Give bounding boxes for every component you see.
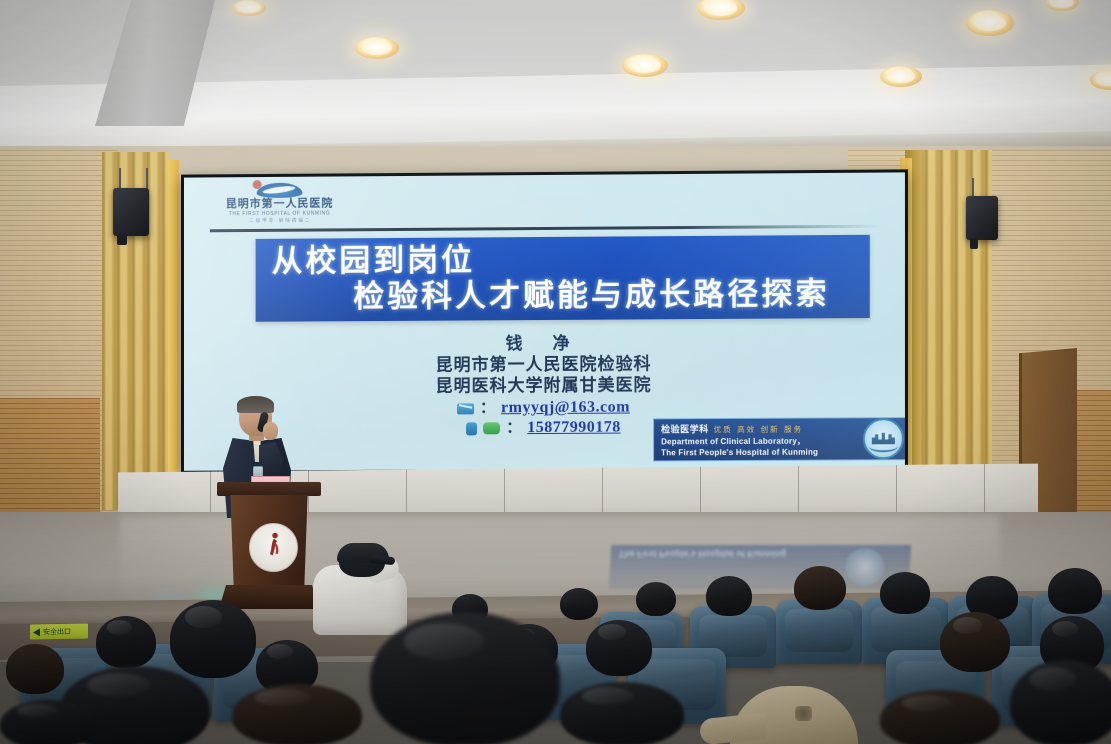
audience-head: [586, 620, 652, 676]
presenter-phone: 15877990178: [527, 419, 621, 438]
slide-org-logo: 昆明市第一人民医院 THE FIRST HOSPITAL OF KUNMING …: [210, 182, 349, 227]
audience-head: [560, 588, 598, 620]
running-figure-emblem-icon: [249, 523, 298, 572]
cap-logo-icon: [795, 706, 812, 721]
audience-head-foreground: [0, 700, 96, 744]
floor-reflection-emblem: [845, 548, 885, 586]
podium-body: [227, 495, 311, 587]
banner-slogans: 优质 高效 创新 服务: [714, 424, 803, 433]
slide-title-line1: 从校园到岗位: [272, 241, 475, 280]
audience-head: [794, 566, 846, 610]
floor-reflection-text: The First People's Hospital of Kunming: [618, 549, 786, 559]
audience-head-foreground: [880, 690, 1000, 744]
email-separator: ：: [480, 399, 495, 417]
audience-head-foreground: [1010, 660, 1111, 744]
speaker-bracket-left: [119, 168, 121, 190]
downlight-icon: [966, 10, 1014, 36]
banner-cn-row: 检验医学科优质 高效 创新 服务: [661, 421, 863, 436]
slide-title-bar: 从校园到岗位 检验科人才赋能与成长路径探索: [256, 235, 870, 322]
speaker-bracket-right: [972, 178, 974, 198]
audience-head-foreground: [560, 682, 684, 744]
speaker-bracket-left: [146, 168, 148, 190]
exit-sign: 安全出口: [30, 623, 88, 639]
presenter-email: rmyyqj@163.com: [501, 399, 630, 418]
phone-separator: ：: [506, 419, 521, 437]
audience-head-foreground: [370, 612, 560, 744]
audience-head: [1048, 568, 1102, 614]
loudspeaker-icon: [966, 196, 998, 240]
mail-icon: [457, 403, 474, 414]
hospital-logo-icon: [257, 183, 303, 198]
slide-title-line2: 检验科人才赋能与成长路径探索: [353, 275, 829, 316]
podium-top: [217, 482, 321, 496]
presenter-hand: [263, 422, 278, 440]
audience-head: [96, 616, 156, 668]
slide-footer-banner-texts: 检验医学科优质 高效 创新 服务 Department of Clinical …: [654, 421, 863, 458]
downlight-icon: [880, 66, 922, 87]
wood-panel-left-lower: [0, 398, 100, 520]
audience-head: [940, 612, 1010, 672]
banner-dept-en-2: The First People's Hospital of Kunming: [661, 446, 863, 458]
audience-head-foreground: [232, 684, 362, 744]
downlight-icon: [622, 54, 668, 77]
audience-head: [636, 582, 676, 616]
running-figure-glyph: [266, 532, 281, 562]
phone-icon: [466, 422, 477, 435]
wechat-icon: [483, 422, 500, 434]
slide-footer-banner: 检验医学科优质 高效 创新 服务 Department of Clinical …: [653, 417, 905, 461]
exit-arrow-icon: [33, 628, 40, 636]
downlight-icon: [232, 0, 266, 16]
audience-head: [880, 572, 930, 614]
kneeling-photographer-icon: [313, 545, 409, 635]
slide-logo-name-cn: 昆明市第一人民医院: [210, 197, 349, 211]
curtain-light-strip-left: [168, 160, 179, 500]
presenter-hair: [237, 396, 274, 413]
exit-sign-label: 安全出口: [43, 626, 71, 636]
audience-head: [6, 644, 64, 694]
slide-logo-tagline: 二 级 甲 等 · 解 除 病 痛 二: [210, 217, 349, 224]
lab-emblem-icon: [863, 418, 904, 459]
audience-head: [170, 600, 256, 678]
loudspeaker-icon: [113, 188, 149, 236]
audience-head: [706, 576, 752, 616]
lectern-podium: [223, 482, 315, 614]
presenter-affiliation-2: 昆明医科大学附属甘美医院: [184, 374, 905, 399]
auditorium-photo: 昆明市第一人民医院 THE FIRST HOSPITAL OF KUNMING …: [0, 0, 1111, 744]
downlight-icon: [355, 37, 399, 59]
banner-dept-cn: 检验医学科: [661, 425, 709, 435]
